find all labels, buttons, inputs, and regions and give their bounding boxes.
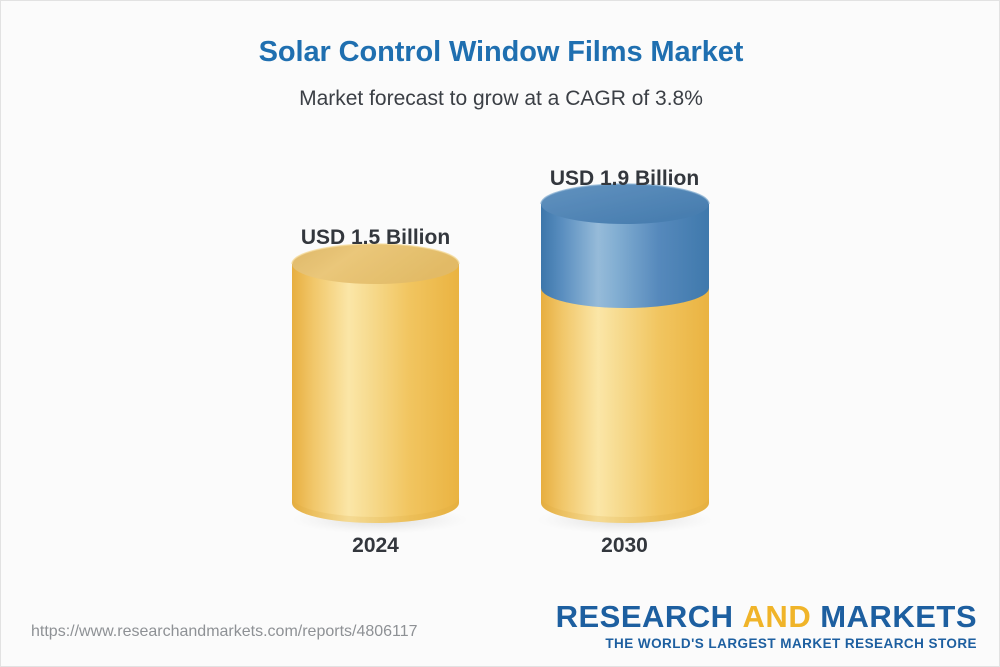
chart-plot-area: USD 1.5 Billion 2024 bbox=[1, 1, 1000, 667]
bar-cylinder-2024 bbox=[292, 239, 459, 539]
brand-word-research: RESEARCH bbox=[556, 599, 734, 634]
bar-cylinder-2030 bbox=[541, 179, 709, 539]
infographic-canvas: Solar Control Window Films Market Market… bbox=[0, 0, 1000, 667]
report-url[interactable]: https://www.researchandmarkets.com/repor… bbox=[31, 623, 418, 641]
category-label-2030: 2030 bbox=[461, 534, 788, 558]
cylinder-body-yellow bbox=[541, 288, 709, 523]
brand-wordmark: RESEARCHANDMARKETS bbox=[556, 601, 977, 632]
brand-word-and: AND bbox=[743, 599, 812, 634]
brand-logo: RESEARCHANDMARKETS THE WORLD'S LARGEST M… bbox=[556, 601, 977, 651]
value-label-2030: USD 1.9 Billion bbox=[461, 167, 788, 191]
value-label-2024: USD 1.5 Billion bbox=[212, 226, 539, 250]
brand-word-markets: MARKETS bbox=[820, 599, 977, 634]
brand-tagline: THE WORLD'S LARGEST MARKET RESEARCH STOR… bbox=[556, 637, 977, 651]
cylinder-body-yellow bbox=[292, 264, 459, 523]
